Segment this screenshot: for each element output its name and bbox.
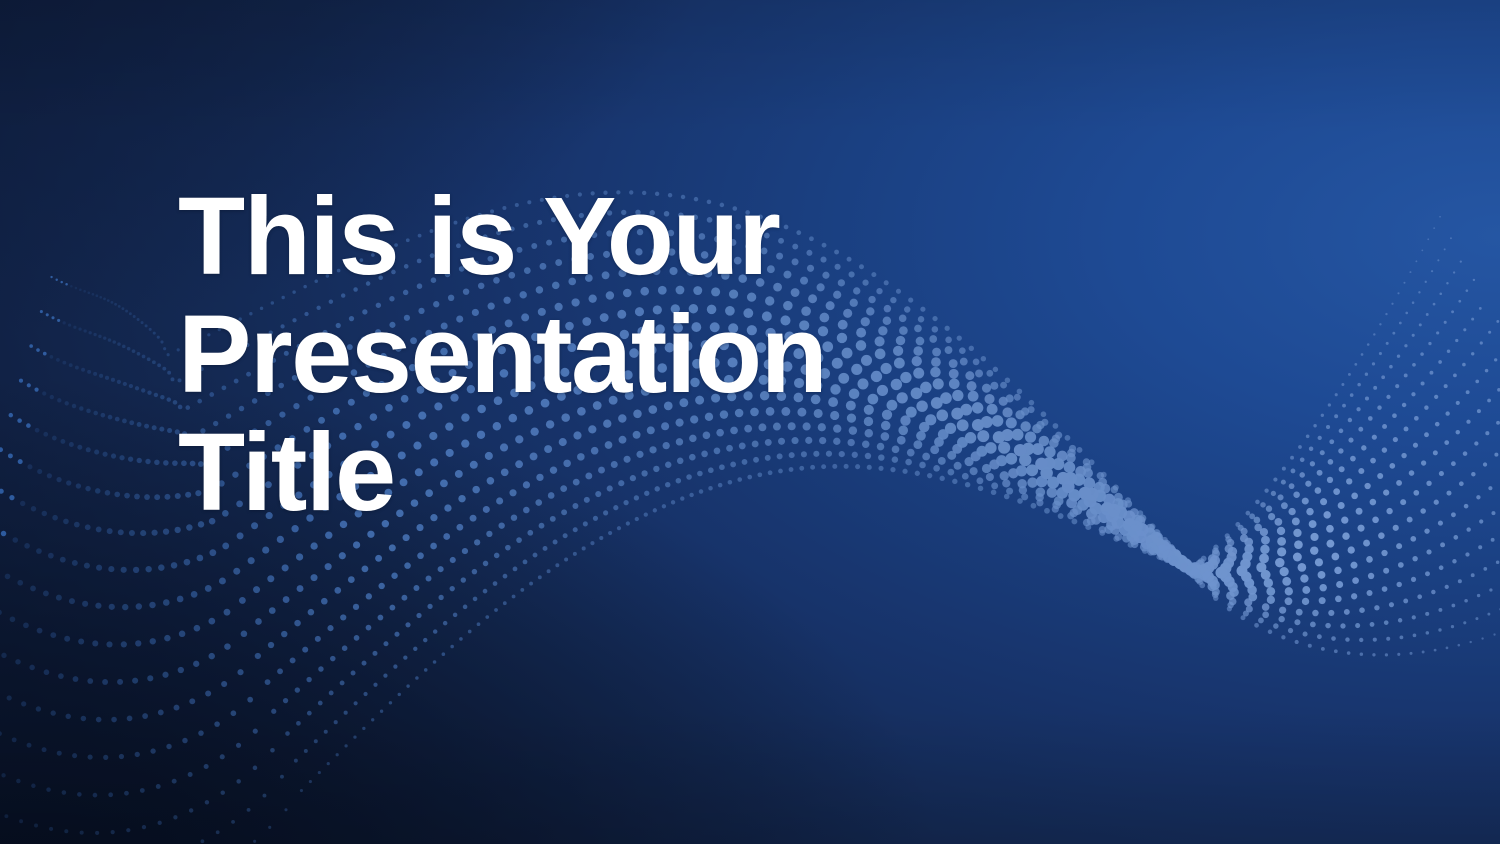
title-line-1: This is Your — [178, 178, 1078, 296]
page-title: This is Your Presentation Title — [178, 178, 1078, 532]
presentation-slide: This is Your Presentation Title — [0, 0, 1500, 844]
title-line-3: Title — [178, 414, 1078, 532]
title-line-2: Presentation — [178, 296, 1078, 414]
